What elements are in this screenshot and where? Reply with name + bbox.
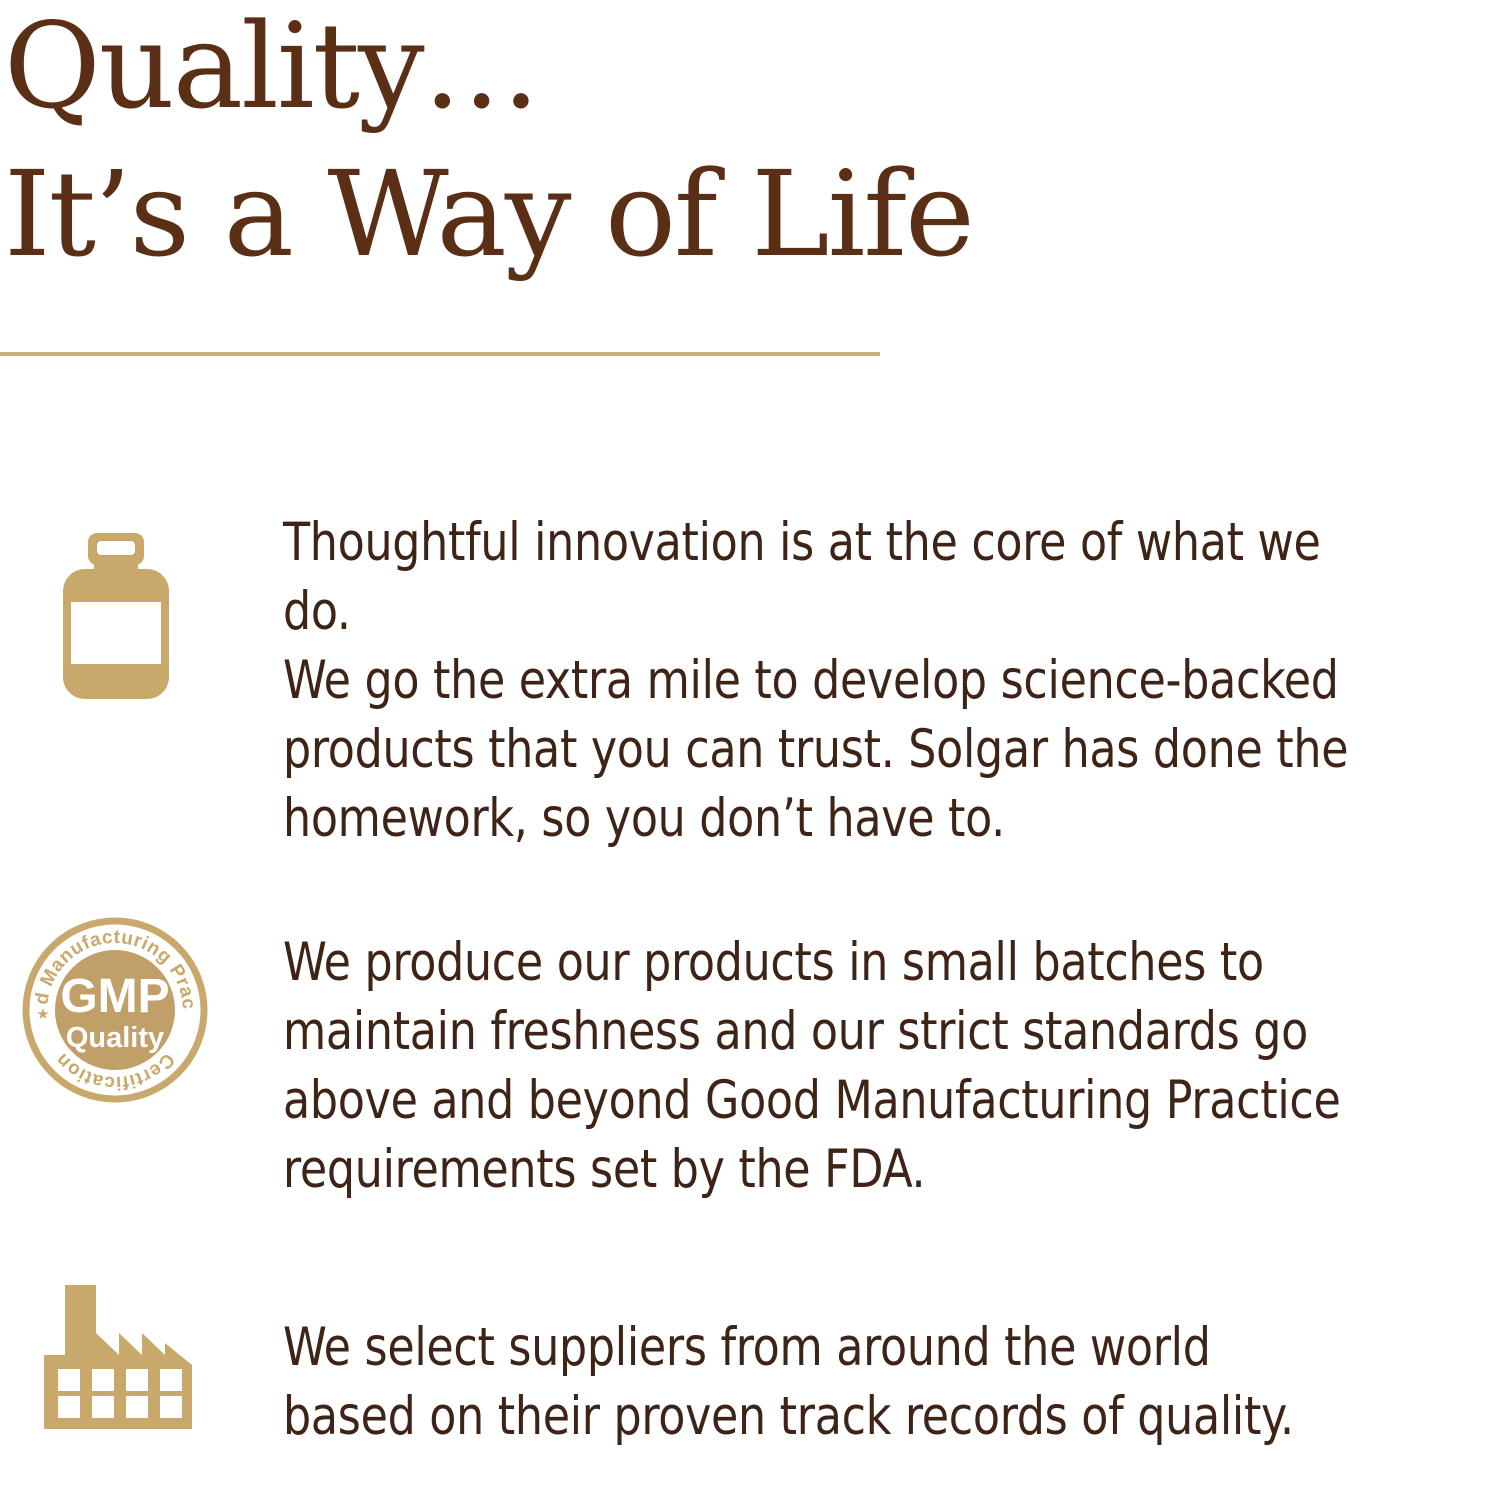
feature-text-line: We produce our products in small batches… xyxy=(283,928,1402,997)
svg-text:★: ★ xyxy=(36,1005,49,1023)
supplement-bottle-icon xyxy=(63,533,169,704)
feature-text-cell: We produce our products in small batches… xyxy=(283,875,1500,1257)
svg-text:GMP: GMP xyxy=(60,970,169,1023)
feature-text-line: We select suppliers from around the worl… xyxy=(283,1313,1402,1382)
page-title-line-2: It’s a Way of Life xyxy=(4,140,1484,288)
svg-text:Quality: Quality xyxy=(66,1022,164,1054)
divider-rule xyxy=(0,352,880,356)
factory-icon xyxy=(44,1285,192,1434)
feature-item-innovation: Thoughtful innovation is at the core of … xyxy=(0,455,1500,875)
feature-paragraph: We select suppliers from around the worl… xyxy=(283,1313,1402,1451)
feature-item-gmp: Good Manufacturing Practice Certificatio… xyxy=(0,875,1500,1260)
gmp-quality-seal-icon: Good Manufacturing Practice Certificatio… xyxy=(22,915,208,1108)
feature-text-line: homework, so you don’t have to. xyxy=(283,784,1402,853)
feature-item-suppliers: We select suppliers from around the worl… xyxy=(0,1260,1500,1470)
page-title-line-1: Quality… xyxy=(4,0,1484,140)
feature-text-line: Thoughtful innovation is at the core of … xyxy=(283,508,1402,646)
feature-icon-cell xyxy=(0,1260,283,1470)
feature-text-line: above and beyond Good Manufacturing Prac… xyxy=(283,1066,1402,1135)
feature-icon-cell: Good Manufacturing Practice Certificatio… xyxy=(0,875,283,1260)
feature-text-cell: Thoughtful innovation is at the core of … xyxy=(283,455,1500,906)
feature-paragraph: We produce our products in small batches… xyxy=(283,928,1402,1204)
feature-text-line: products that you can trust. Solgar has … xyxy=(283,715,1402,784)
feature-text-cell: We select suppliers from around the worl… xyxy=(283,1260,1500,1504)
feature-icon-cell xyxy=(0,455,283,875)
feature-text-line: We go the extra mile to develop science-… xyxy=(283,646,1402,715)
feature-text-line: requirements set by the FDA. xyxy=(283,1135,1402,1204)
feature-text-line: based on their proven track records of q… xyxy=(283,1382,1402,1451)
feature-paragraph: Thoughtful innovation is at the core of … xyxy=(283,508,1402,853)
feature-text-line: maintain freshness and our strict standa… xyxy=(283,997,1402,1066)
feature-list: Thoughtful innovation is at the core of … xyxy=(0,455,1500,1470)
page-title: Quality… It’s a Way of Life xyxy=(4,0,1484,288)
